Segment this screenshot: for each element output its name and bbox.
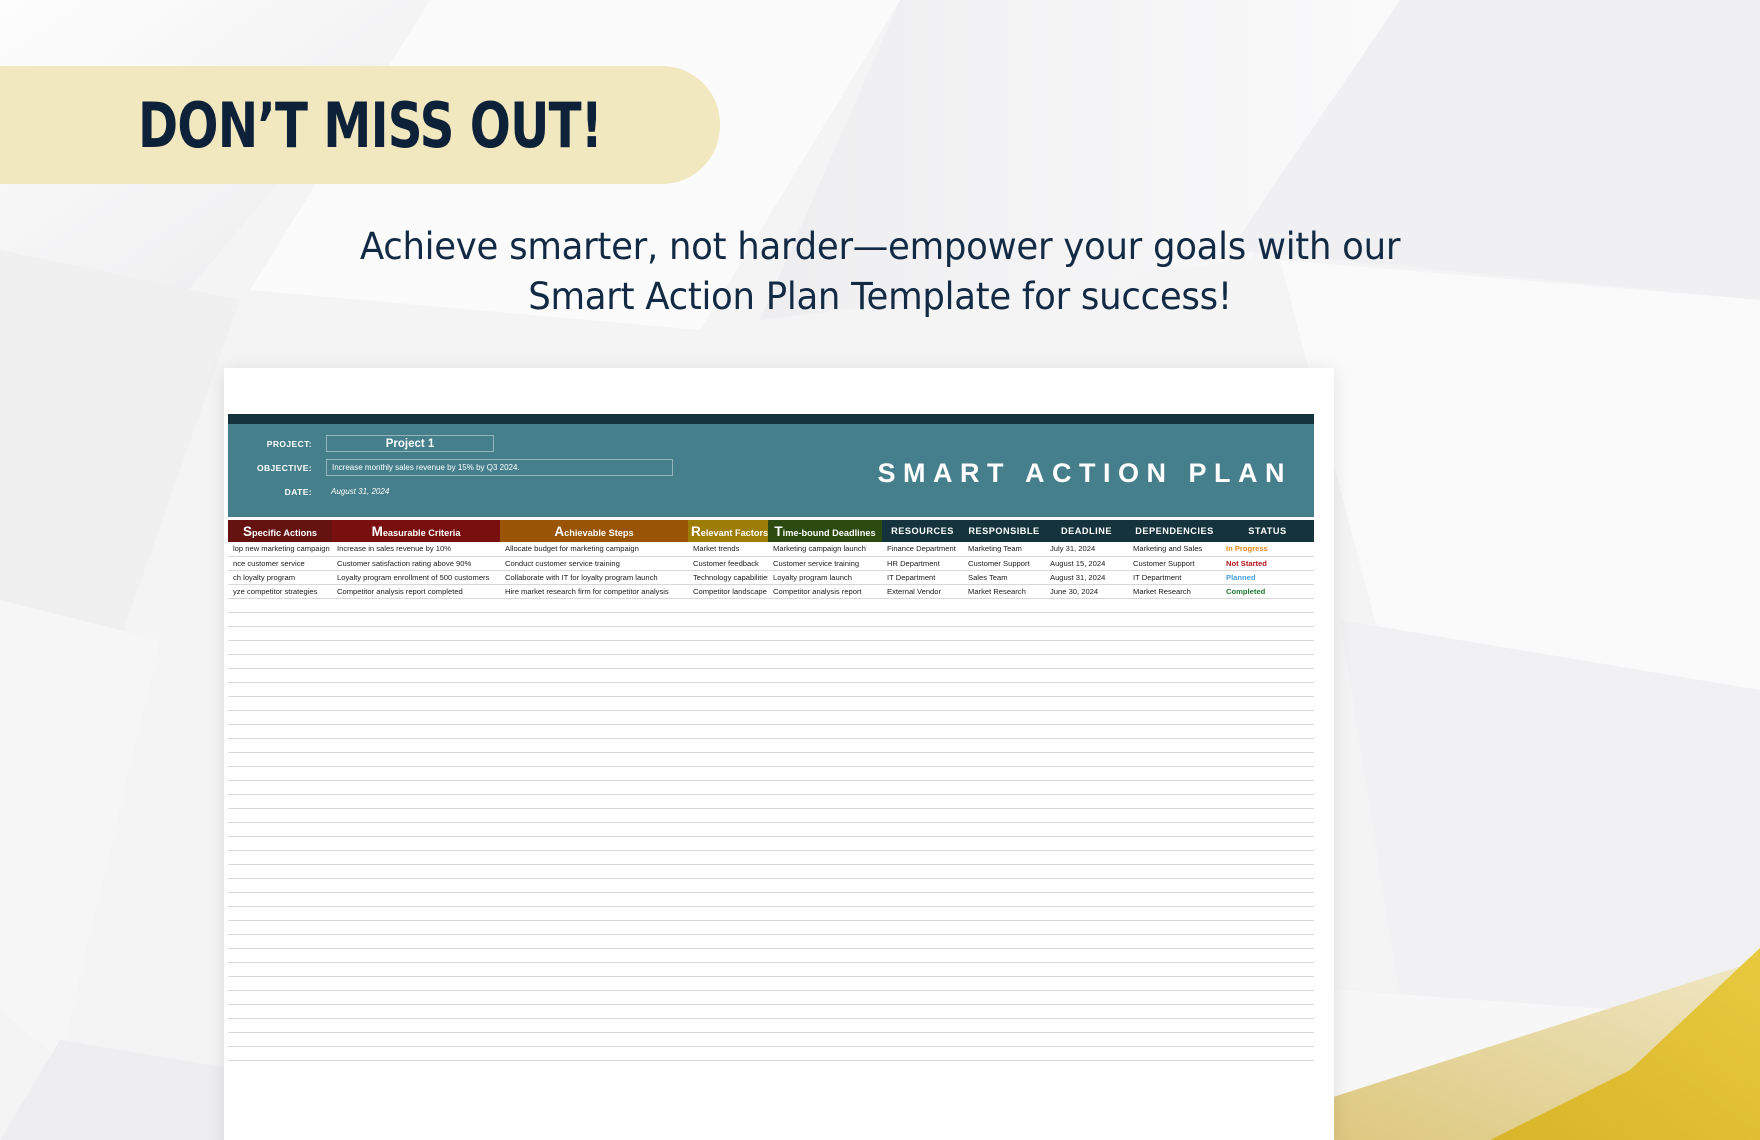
table-row[interactable]: lop new marketing campaignIncrease in sa… (228, 542, 1314, 556)
empty-cell[interactable] (688, 654, 768, 668)
empty-cell[interactable] (882, 682, 963, 696)
empty-cell[interactable] (500, 654, 688, 668)
empty-cell[interactable] (332, 766, 500, 780)
empty-cell[interactable] (1128, 878, 1221, 892)
empty-table-row[interactable] (228, 668, 1314, 682)
empty-cell[interactable] (500, 696, 688, 710)
empty-cell[interactable] (1221, 752, 1314, 766)
empty-cell[interactable] (1045, 640, 1128, 654)
empty-cell[interactable] (882, 808, 963, 822)
empty-cell[interactable] (228, 934, 332, 948)
empty-cell[interactable] (768, 808, 882, 822)
empty-table-row[interactable] (228, 682, 1314, 696)
cell-deadline[interactable]: July 31, 2024 (1045, 542, 1128, 556)
empty-cell[interactable] (1128, 976, 1221, 990)
empty-cell[interactable] (882, 766, 963, 780)
cell-achievable[interactable]: Conduct customer service training (500, 556, 688, 570)
empty-cell[interactable] (963, 892, 1045, 906)
column-header-status[interactable]: STATUS (1221, 520, 1314, 542)
empty-cell[interactable] (1221, 850, 1314, 864)
empty-cell[interactable] (1045, 906, 1128, 920)
cell-dependencies[interactable]: Market Research (1128, 584, 1221, 598)
cell-responsible[interactable]: Sales Team (963, 570, 1045, 584)
empty-cell[interactable] (500, 794, 688, 808)
empty-cell[interactable] (1045, 920, 1128, 934)
empty-cell[interactable] (882, 962, 963, 976)
cell-status[interactable]: Completed (1221, 584, 1314, 598)
empty-cell[interactable] (228, 1018, 332, 1032)
cell-deadline[interactable]: June 30, 2024 (1045, 584, 1128, 598)
empty-cell[interactable] (688, 822, 768, 836)
empty-cell[interactable] (768, 640, 882, 654)
empty-cell[interactable] (768, 626, 882, 640)
empty-cell[interactable] (500, 934, 688, 948)
column-header-elevant-factors[interactable]: Relevant Factors (688, 520, 768, 542)
empty-cell[interactable] (1045, 626, 1128, 640)
empty-cell[interactable] (500, 780, 688, 794)
empty-cell[interactable] (688, 906, 768, 920)
empty-table-row[interactable] (228, 948, 1314, 962)
empty-cell[interactable] (332, 892, 500, 906)
empty-cell[interactable] (1221, 598, 1314, 612)
empty-cell[interactable] (963, 1046, 1045, 1060)
empty-cell[interactable] (500, 892, 688, 906)
empty-cell[interactable] (332, 1018, 500, 1032)
empty-cell[interactable] (768, 724, 882, 738)
empty-cell[interactable] (332, 752, 500, 766)
empty-cell[interactable] (228, 766, 332, 780)
empty-cell[interactable] (768, 780, 882, 794)
empty-cell[interactable] (1045, 668, 1128, 682)
objective-input[interactable]: Increase monthly sales revenue by 15% by… (326, 459, 673, 476)
empty-cell[interactable] (228, 738, 332, 752)
empty-cell[interactable] (228, 808, 332, 822)
empty-cell[interactable] (1221, 808, 1314, 822)
cell-status[interactable]: In Progress (1221, 542, 1314, 556)
empty-cell[interactable] (688, 724, 768, 738)
empty-cell[interactable] (332, 626, 500, 640)
empty-cell[interactable] (332, 1046, 500, 1060)
empty-cell[interactable] (1128, 906, 1221, 920)
empty-cell[interactable] (688, 598, 768, 612)
empty-cell[interactable] (1221, 710, 1314, 724)
empty-cell[interactable] (768, 654, 882, 668)
empty-cell[interactable] (688, 1018, 768, 1032)
empty-cell[interactable] (500, 906, 688, 920)
cell-resources[interactable]: External Vendor (882, 584, 963, 598)
empty-cell[interactable] (963, 668, 1045, 682)
empty-cell[interactable] (332, 794, 500, 808)
table-row[interactable]: nce customer serviceCustomer satisfactio… (228, 556, 1314, 570)
empty-table-row[interactable] (228, 626, 1314, 640)
empty-cell[interactable] (963, 626, 1045, 640)
empty-cell[interactable] (768, 1032, 882, 1046)
cell-resources[interactable]: HR Department (882, 556, 963, 570)
empty-cell[interactable] (500, 962, 688, 976)
empty-cell[interactable] (1045, 808, 1128, 822)
empty-table-row[interactable] (228, 850, 1314, 864)
empty-cell[interactable] (1221, 780, 1314, 794)
cell-achievable[interactable]: Collaborate with IT for loyalty program … (500, 570, 688, 584)
empty-table-row[interactable] (228, 878, 1314, 892)
empty-cell[interactable] (500, 850, 688, 864)
empty-cell[interactable] (228, 864, 332, 878)
column-header-chievable-steps[interactable]: Achievable Steps (500, 520, 688, 542)
empty-table-row[interactable] (228, 1004, 1314, 1018)
empty-cell[interactable] (882, 892, 963, 906)
empty-cell[interactable] (963, 906, 1045, 920)
cell-resources[interactable]: Finance Department (882, 542, 963, 556)
empty-cell[interactable] (500, 682, 688, 696)
empty-cell[interactable] (882, 668, 963, 682)
empty-cell[interactable] (1045, 934, 1128, 948)
empty-table-row[interactable] (228, 724, 1314, 738)
cell-dependencies[interactable]: Customer Support (1128, 556, 1221, 570)
empty-cell[interactable] (882, 794, 963, 808)
empty-cell[interactable] (963, 864, 1045, 878)
cell-specific[interactable]: yze competitor strategies (228, 584, 332, 598)
empty-cell[interactable] (1221, 682, 1314, 696)
empty-table-row[interactable] (228, 794, 1314, 808)
empty-cell[interactable] (228, 752, 332, 766)
empty-cell[interactable] (332, 934, 500, 948)
empty-cell[interactable] (688, 1046, 768, 1060)
empty-cell[interactable] (768, 822, 882, 836)
empty-cell[interactable] (963, 962, 1045, 976)
empty-cell[interactable] (768, 906, 882, 920)
empty-cell[interactable] (1128, 850, 1221, 864)
cell-deadline[interactable]: August 31, 2024 (1045, 570, 1128, 584)
empty-table-row[interactable] (228, 836, 1314, 850)
column-header-easurable-criteria[interactable]: Measurable Criteria (332, 520, 500, 542)
empty-cell[interactable] (882, 948, 963, 962)
empty-cell[interactable] (1128, 696, 1221, 710)
empty-cell[interactable] (768, 850, 882, 864)
empty-cell[interactable] (768, 864, 882, 878)
empty-table-row[interactable] (228, 920, 1314, 934)
empty-cell[interactable] (228, 850, 332, 864)
empty-cell[interactable] (500, 836, 688, 850)
empty-cell[interactable] (963, 752, 1045, 766)
empty-cell[interactable] (963, 710, 1045, 724)
empty-cell[interactable] (228, 1004, 332, 1018)
empty-cell[interactable] (1128, 710, 1221, 724)
empty-cell[interactable] (768, 752, 882, 766)
empty-cell[interactable] (882, 696, 963, 710)
empty-cell[interactable] (963, 934, 1045, 948)
empty-cell[interactable] (228, 878, 332, 892)
date-input[interactable]: August 31, 2024 (326, 487, 389, 496)
empty-cell[interactable] (882, 724, 963, 738)
empty-cell[interactable] (1045, 990, 1128, 1004)
empty-cell[interactable] (963, 836, 1045, 850)
empty-cell[interactable] (1045, 752, 1128, 766)
empty-cell[interactable] (768, 612, 882, 626)
empty-cell[interactable] (1128, 724, 1221, 738)
empty-cell[interactable] (332, 1004, 500, 1018)
empty-cell[interactable] (768, 682, 882, 696)
empty-cell[interactable] (1128, 780, 1221, 794)
empty-cell[interactable] (332, 598, 500, 612)
empty-table-row[interactable] (228, 738, 1314, 752)
empty-cell[interactable] (1221, 1046, 1314, 1060)
empty-cell[interactable] (1221, 654, 1314, 668)
empty-cell[interactable] (1221, 822, 1314, 836)
empty-cell[interactable] (688, 794, 768, 808)
empty-cell[interactable] (228, 598, 332, 612)
empty-cell[interactable] (1128, 948, 1221, 962)
empty-cell[interactable] (768, 836, 882, 850)
table-row[interactable]: ch loyalty programLoyalty program enroll… (228, 570, 1314, 584)
empty-cell[interactable] (1221, 990, 1314, 1004)
empty-cell[interactable] (882, 850, 963, 864)
empty-cell[interactable] (882, 1004, 963, 1018)
empty-cell[interactable] (1045, 682, 1128, 696)
empty-table-row[interactable] (228, 808, 1314, 822)
empty-cell[interactable] (768, 766, 882, 780)
empty-cell[interactable] (500, 864, 688, 878)
empty-cell[interactable] (228, 962, 332, 976)
empty-cell[interactable] (1221, 878, 1314, 892)
empty-table-row[interactable] (228, 976, 1314, 990)
empty-cell[interactable] (1221, 864, 1314, 878)
empty-cell[interactable] (500, 668, 688, 682)
cell-responsible[interactable]: Customer Support (963, 556, 1045, 570)
empty-cell[interactable] (228, 822, 332, 836)
empty-cell[interactable] (500, 1004, 688, 1018)
empty-cell[interactable] (768, 696, 882, 710)
empty-cell[interactable] (882, 906, 963, 920)
cell-responsible[interactable]: Market Research (963, 584, 1045, 598)
empty-cell[interactable] (332, 738, 500, 752)
empty-cell[interactable] (1128, 1004, 1221, 1018)
empty-cell[interactable] (1045, 1018, 1128, 1032)
empty-cell[interactable] (688, 752, 768, 766)
empty-cell[interactable] (768, 710, 882, 724)
empty-cell[interactable] (963, 696, 1045, 710)
empty-cell[interactable] (768, 1046, 882, 1060)
empty-cell[interactable] (882, 934, 963, 948)
cell-specific[interactable]: ch loyalty program (228, 570, 332, 584)
empty-cell[interactable] (1045, 738, 1128, 752)
empty-cell[interactable] (500, 710, 688, 724)
empty-cell[interactable] (963, 766, 1045, 780)
empty-cell[interactable] (768, 934, 882, 948)
empty-cell[interactable] (228, 794, 332, 808)
empty-cell[interactable] (228, 612, 332, 626)
empty-cell[interactable] (500, 990, 688, 1004)
empty-cell[interactable] (500, 920, 688, 934)
empty-table-row[interactable] (228, 864, 1314, 878)
empty-cell[interactable] (332, 962, 500, 976)
empty-table-row[interactable] (228, 710, 1314, 724)
empty-cell[interactable] (688, 668, 768, 682)
empty-cell[interactable] (1128, 794, 1221, 808)
cell-status[interactable]: Not Started (1221, 556, 1314, 570)
empty-cell[interactable] (332, 878, 500, 892)
cell-relevant[interactable]: Competitor landscape (688, 584, 768, 598)
empty-cell[interactable] (882, 598, 963, 612)
empty-cell[interactable] (1128, 1032, 1221, 1046)
empty-cell[interactable] (882, 878, 963, 892)
empty-cell[interactable] (1128, 934, 1221, 948)
empty-cell[interactable] (500, 752, 688, 766)
empty-cell[interactable] (963, 920, 1045, 934)
empty-cell[interactable] (1128, 626, 1221, 640)
empty-cell[interactable] (332, 822, 500, 836)
empty-cell[interactable] (1221, 612, 1314, 626)
cell-deadline[interactable]: August 15, 2024 (1045, 556, 1128, 570)
empty-cell[interactable] (1221, 640, 1314, 654)
empty-cell[interactable] (1221, 1018, 1314, 1032)
cell-timebound[interactable]: Customer service training (768, 556, 882, 570)
empty-cell[interactable] (1128, 990, 1221, 1004)
empty-cell[interactable] (1128, 920, 1221, 934)
empty-cell[interactable] (500, 1018, 688, 1032)
empty-cell[interactable] (500, 640, 688, 654)
empty-cell[interactable] (1128, 808, 1221, 822)
empty-cell[interactable] (332, 710, 500, 724)
empty-cell[interactable] (882, 710, 963, 724)
empty-cell[interactable] (688, 892, 768, 906)
empty-cell[interactable] (1221, 1004, 1314, 1018)
cell-dependencies[interactable]: Marketing and Sales (1128, 542, 1221, 556)
empty-cell[interactable] (228, 626, 332, 640)
empty-cell[interactable] (500, 976, 688, 990)
empty-cell[interactable] (1128, 864, 1221, 878)
empty-table-row[interactable] (228, 598, 1314, 612)
empty-table-row[interactable] (228, 822, 1314, 836)
empty-cell[interactable] (1128, 654, 1221, 668)
empty-cell[interactable] (768, 878, 882, 892)
cell-measurable[interactable]: Loyalty program enrollment of 500 custom… (332, 570, 500, 584)
cell-relevant[interactable]: Customer feedback (688, 556, 768, 570)
empty-cell[interactable] (332, 696, 500, 710)
empty-cell[interactable] (1045, 962, 1128, 976)
empty-cell[interactable] (963, 1004, 1045, 1018)
empty-cell[interactable] (1128, 640, 1221, 654)
empty-cell[interactable] (1128, 612, 1221, 626)
empty-cell[interactable] (1128, 766, 1221, 780)
empty-cell[interactable] (768, 1018, 882, 1032)
empty-cell[interactable] (1221, 892, 1314, 906)
empty-cell[interactable] (228, 836, 332, 850)
empty-cell[interactable] (228, 682, 332, 696)
empty-cell[interactable] (1045, 976, 1128, 990)
empty-cell[interactable] (688, 738, 768, 752)
empty-cell[interactable] (1045, 696, 1128, 710)
empty-cell[interactable] (500, 738, 688, 752)
empty-cell[interactable] (1045, 654, 1128, 668)
empty-cell[interactable] (688, 1004, 768, 1018)
empty-cell[interactable] (332, 920, 500, 934)
empty-cell[interactable] (228, 780, 332, 794)
empty-cell[interactable] (768, 892, 882, 906)
empty-cell[interactable] (332, 836, 500, 850)
empty-cell[interactable] (768, 1004, 882, 1018)
empty-cell[interactable] (768, 794, 882, 808)
empty-cell[interactable] (688, 808, 768, 822)
empty-table-row[interactable] (228, 780, 1314, 794)
empty-cell[interactable] (1221, 906, 1314, 920)
cell-relevant[interactable]: Technology capabilities (688, 570, 768, 584)
empty-table-row[interactable] (228, 1032, 1314, 1046)
empty-cell[interactable] (1045, 710, 1128, 724)
empty-cell[interactable] (882, 1018, 963, 1032)
empty-cell[interactable] (1045, 892, 1128, 906)
empty-cell[interactable] (882, 738, 963, 752)
empty-cell[interactable] (963, 612, 1045, 626)
empty-cell[interactable] (500, 612, 688, 626)
empty-cell[interactable] (228, 892, 332, 906)
empty-cell[interactable] (1128, 668, 1221, 682)
empty-cell[interactable] (1045, 794, 1128, 808)
empty-cell[interactable] (963, 640, 1045, 654)
empty-cell[interactable] (228, 976, 332, 990)
column-header-dependencies[interactable]: DEPENDENCIES (1128, 520, 1221, 542)
empty-cell[interactable] (963, 654, 1045, 668)
empty-cell[interactable] (1128, 892, 1221, 906)
cell-timebound[interactable]: Marketing campaign launch (768, 542, 882, 556)
empty-cell[interactable] (1128, 836, 1221, 850)
cell-timebound[interactable]: Loyalty program launch (768, 570, 882, 584)
empty-cell[interactable] (1128, 598, 1221, 612)
empty-table-row[interactable] (228, 892, 1314, 906)
empty-cell[interactable] (228, 948, 332, 962)
empty-cell[interactable] (228, 710, 332, 724)
empty-cell[interactable] (228, 1046, 332, 1060)
empty-cell[interactable] (882, 626, 963, 640)
empty-table-row[interactable] (228, 990, 1314, 1004)
empty-cell[interactable] (963, 598, 1045, 612)
column-header-responsible[interactable]: RESPONSIBLE (963, 520, 1045, 542)
empty-cell[interactable] (1045, 864, 1128, 878)
empty-cell[interactable] (768, 738, 882, 752)
empty-cell[interactable] (1221, 668, 1314, 682)
empty-cell[interactable] (963, 738, 1045, 752)
empty-cell[interactable] (688, 934, 768, 948)
cell-measurable[interactable]: Customer satisfaction rating above 90% (332, 556, 500, 570)
empty-cell[interactable] (688, 920, 768, 934)
empty-cell[interactable] (1221, 934, 1314, 948)
cell-status[interactable]: Planned (1221, 570, 1314, 584)
empty-cell[interactable] (1221, 738, 1314, 752)
cell-achievable[interactable]: Allocate budget for marketing campaign (500, 542, 688, 556)
empty-cell[interactable] (1045, 766, 1128, 780)
empty-cell[interactable] (688, 710, 768, 724)
empty-cell[interactable] (1221, 976, 1314, 990)
empty-cell[interactable] (500, 948, 688, 962)
empty-cell[interactable] (882, 990, 963, 1004)
cell-dependencies[interactable]: IT Department (1128, 570, 1221, 584)
empty-cell[interactable] (1045, 1046, 1128, 1060)
empty-cell[interactable] (688, 962, 768, 976)
empty-cell[interactable] (228, 696, 332, 710)
empty-cell[interactable] (1221, 948, 1314, 962)
empty-cell[interactable] (332, 654, 500, 668)
empty-cell[interactable] (1128, 822, 1221, 836)
empty-cell[interactable] (963, 682, 1045, 696)
empty-cell[interactable] (1221, 962, 1314, 976)
empty-cell[interactable] (228, 654, 332, 668)
empty-cell[interactable] (882, 976, 963, 990)
empty-cell[interactable] (228, 640, 332, 654)
empty-cell[interactable] (882, 836, 963, 850)
empty-cell[interactable] (332, 906, 500, 920)
empty-cell[interactable] (882, 654, 963, 668)
empty-cell[interactable] (1045, 850, 1128, 864)
empty-cell[interactable] (500, 1032, 688, 1046)
